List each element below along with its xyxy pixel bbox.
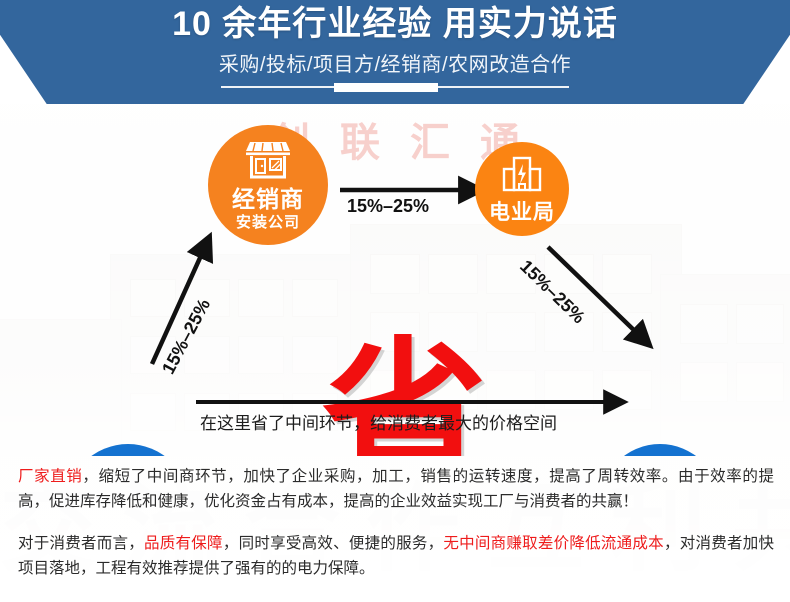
paragraph-2-mid: ，同时享受高效、便捷的服务，	[223, 535, 444, 552]
node-dealer[interactable]: 经销商 安装公司	[208, 125, 328, 245]
header-content: 10 余年行业经验 用实力说话 采购/投标/项目方/经销商/农网改造合作	[0, 0, 790, 104]
header-subtitle: 采购/投标/项目方/经销商/农网改造合作	[219, 48, 571, 77]
node-dealer-sublabel: 安装公司	[236, 215, 300, 230]
header-divider	[221, 83, 569, 92]
savings-character: 省	[322, 336, 487, 456]
paragraph-2-highlight-1: 品质有保障	[144, 535, 223, 552]
paragraph-1: 厂家直销，缩短了中间商环节，加快了企业采购，加工，销售的运转速度，提高了周转效率…	[18, 464, 774, 514]
brand-watermark: 创联汇通	[0, 110, 790, 168]
power-building-icon	[500, 156, 544, 199]
flow-diagram: 创联汇通 省 15%–25% 15%–25% 15%–25% 在这里省了中间环节…	[0, 104, 790, 456]
shop-icon	[242, 140, 294, 185]
description-section: 交流合作互利共赢 厂家直销，缩短了中间商环节，加快了企业采购，加工，销售的运转速…	[0, 456, 790, 602]
node-power-bureau-label: 电业局	[489, 202, 555, 223]
header-title: 10 余年行业经验 用实力说话	[172, 7, 618, 43]
paragraph-1-text: ，缩短了中间商环节，加快了企业采购，加工，销售的运转速度，提高了周转效率。由于效…	[18, 468, 774, 510]
arrow-label-dealer-to-power: 15%–25%	[347, 196, 429, 217]
description-body: 厂家直销，缩短了中间商环节，加快了企业采购，加工，销售的运转速度，提高了周转效率…	[18, 464, 774, 581]
infographic-page: 10 余年行业经验 用实力说话 采购/投标/项目方/经销商/农网改造合作	[0, 0, 790, 602]
node-power-bureau[interactable]: 电业局	[475, 142, 569, 236]
node-dealer-label: 经销商	[232, 188, 304, 211]
paragraph-2: 对于消费者而言，品质有保障，同时享受高效、便捷的服务，无中间商赚取差价降低流通成…	[18, 531, 774, 581]
paragraph-2-highlight-2: 无中间商赚取差价降低流通成本	[443, 535, 664, 552]
header-divider-accent	[334, 83, 438, 92]
arrow-label-brand-to-consumer: 在这里省了中间环节，给消费者最大的价格空间	[200, 409, 557, 434]
header-banner: 10 余年行业经验 用实力说话 采购/投标/项目方/经销商/农网改造合作	[0, 0, 790, 104]
paragraph-2-lead: 对于消费者而言，	[18, 535, 144, 552]
paragraph-1-highlight: 厂家直销	[18, 468, 82, 485]
